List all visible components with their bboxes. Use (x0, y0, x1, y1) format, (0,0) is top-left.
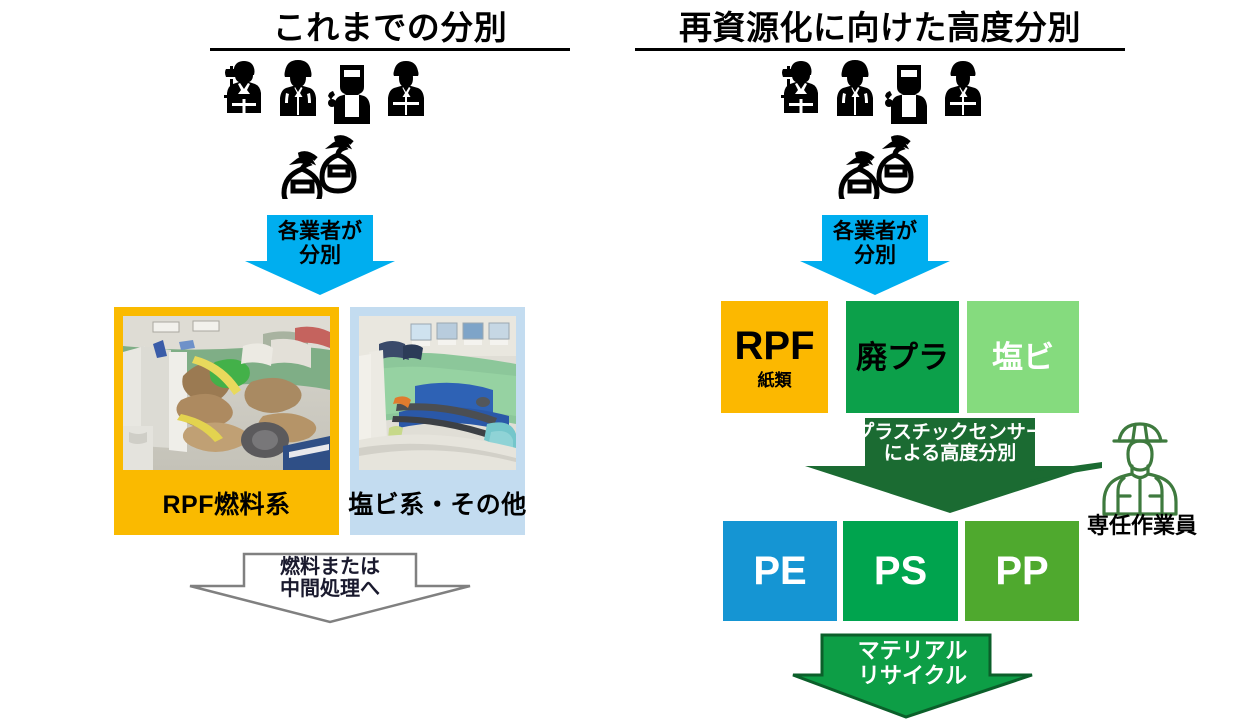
category-box-pe-main: PE (753, 551, 806, 591)
workers-group-icon-right (772, 55, 992, 133)
worker-helmet-vest-icon (937, 55, 989, 133)
right-people-bags-group (772, 55, 992, 199)
photo-card-enbi-caption: 塩ビ系・その他 (348, 470, 527, 535)
photo-card-rpf: RPF燃料系 (114, 307, 339, 535)
material-recycle-arrow: マテリアル リサイクル (790, 633, 1035, 719)
right-flow-arrow: 各業者が 分別 (800, 215, 950, 295)
staff-icon (1094, 416, 1186, 516)
left-outcome-arrow-label: 燃料または 中間処理へ (280, 552, 380, 601)
worker-helmet-icon (829, 55, 881, 133)
left-people-bags-group (215, 55, 435, 199)
photo-card-rpf-caption: RPF燃料系 (162, 470, 290, 535)
category-box-pp: PP (965, 521, 1079, 621)
category-box-rpf-sub: 紙類 (758, 372, 792, 389)
photo-card-enbi: 塩ビ系・その他 (350, 307, 525, 535)
workers-group-icon (215, 55, 435, 133)
category-box-enbi: 塩ビ (967, 301, 1079, 413)
worker-electrician-icon (775, 55, 827, 133)
left-panel-title: これまでの分別 (210, 10, 570, 51)
left-outcome-arrow: 燃料または 中間処理へ (186, 552, 474, 624)
left-flow-arrow-label: 各業者が 分別 (278, 215, 362, 267)
sensor-arrow-label: プラスチックセンサー による高度分別 (855, 418, 1045, 465)
category-box-rpf-main: RPF (735, 326, 815, 366)
category-box-haipura-main: 廃プラ (856, 342, 949, 373)
worker-helmet-vest-icon (380, 55, 432, 133)
worker-helmet-outline-icon (1094, 416, 1186, 516)
worker-welder-icon (883, 55, 935, 133)
trash-bags-icon (215, 129, 435, 199)
diagram-canvas: これまでの分別 再資源化に向けた高度分別 (0, 0, 1246, 722)
category-box-haipura: 廃プラ (846, 301, 959, 413)
right-panel-title: 再資源化に向けた高度分別 (635, 10, 1125, 51)
left-flow-arrow: 各業者が 分別 (245, 215, 395, 295)
photo-rpf-waste (123, 316, 330, 470)
staff-label: 専任作業員 (1082, 508, 1202, 540)
category-box-pe: PE (723, 521, 837, 621)
category-box-pp-main: PP (995, 551, 1048, 591)
material-recycle-arrow-label: マテリアル リサイクル (858, 633, 968, 688)
right-flow-arrow-label: 各業者が 分別 (833, 215, 917, 267)
category-box-enbi-main: 塩ビ (992, 342, 1054, 373)
category-box-ps-main: PS (874, 551, 927, 591)
worker-welder-icon (326, 55, 378, 133)
worker-helmet-icon (272, 55, 324, 133)
category-box-ps: PS (843, 521, 958, 621)
photo-enbi-waste (359, 316, 516, 470)
trash-bags-icon-right (772, 129, 992, 199)
worker-electrician-icon (218, 55, 270, 133)
category-box-rpf: RPF 紙類 (721, 301, 828, 413)
